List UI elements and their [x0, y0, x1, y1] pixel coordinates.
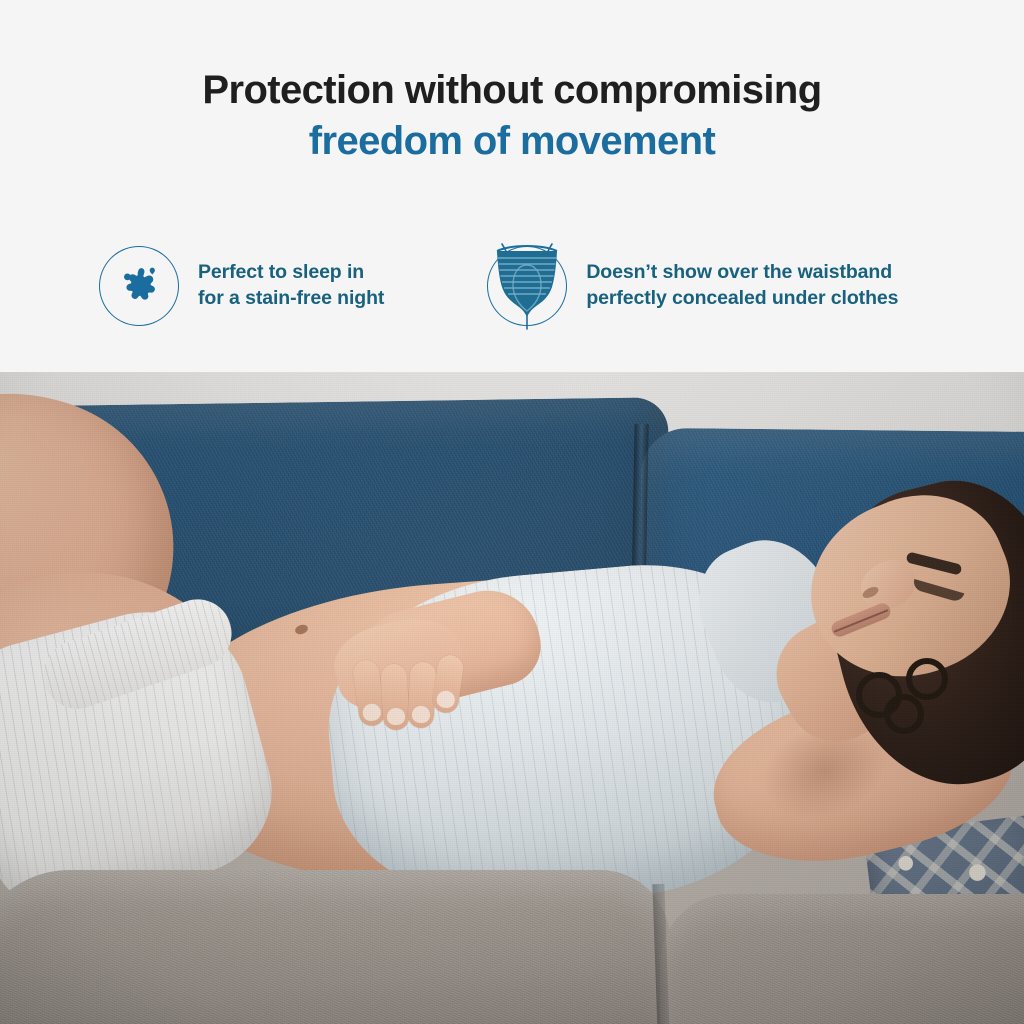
splash-icon: [99, 246, 179, 326]
info-panel: Protection without compromising freedom …: [0, 0, 1024, 372]
model-fingernail-1: [362, 703, 382, 722]
feature-text-sleep: Perfect to sleep in for a stain-free nig…: [198, 260, 384, 311]
model-hair-curl-3: [906, 658, 948, 700]
feature-text-discreet: Doesn’t show over the waistband perfectl…: [586, 260, 898, 311]
sofa-seat-cushion-right: [660, 894, 1024, 1024]
model-finger-2: [380, 663, 409, 730]
feature-item-discreet: Doesn’t show over the waistband perfectl…: [487, 246, 898, 326]
headline-line-1: Protection without compromising: [0, 68, 1024, 113]
feature-list: Perfect to sleep in for a stain-free nig…: [0, 246, 1024, 326]
sofa-seat-cushion-left: [0, 870, 670, 1024]
feature-sleep-line-2: for a stain-free night: [198, 286, 384, 312]
feature-sleep-line-1: Perfect to sleep in: [198, 260, 384, 286]
headline-line-2: freedom of movement: [0, 119, 1024, 164]
feature-discreet-line-2: perfectly concealed under clothes: [586, 286, 898, 312]
product-benefits-banner: Protection without compromising freedom …: [0, 0, 1024, 1024]
feature-discreet-line-1: Doesn’t show over the waistband: [586, 260, 898, 286]
model-fingernail-3: [412, 706, 431, 724]
model-fingernail-2: [387, 708, 406, 726]
underwear-brief-icon: [487, 246, 567, 326]
lifestyle-photo: [0, 372, 1024, 1024]
feature-item-sleep: Perfect to sleep in for a stain-free nig…: [99, 246, 384, 326]
model-hair-curl-2: [884, 694, 924, 734]
headline: Protection without compromising freedom …: [0, 68, 1024, 164]
model-fingernail-4: [436, 690, 456, 709]
